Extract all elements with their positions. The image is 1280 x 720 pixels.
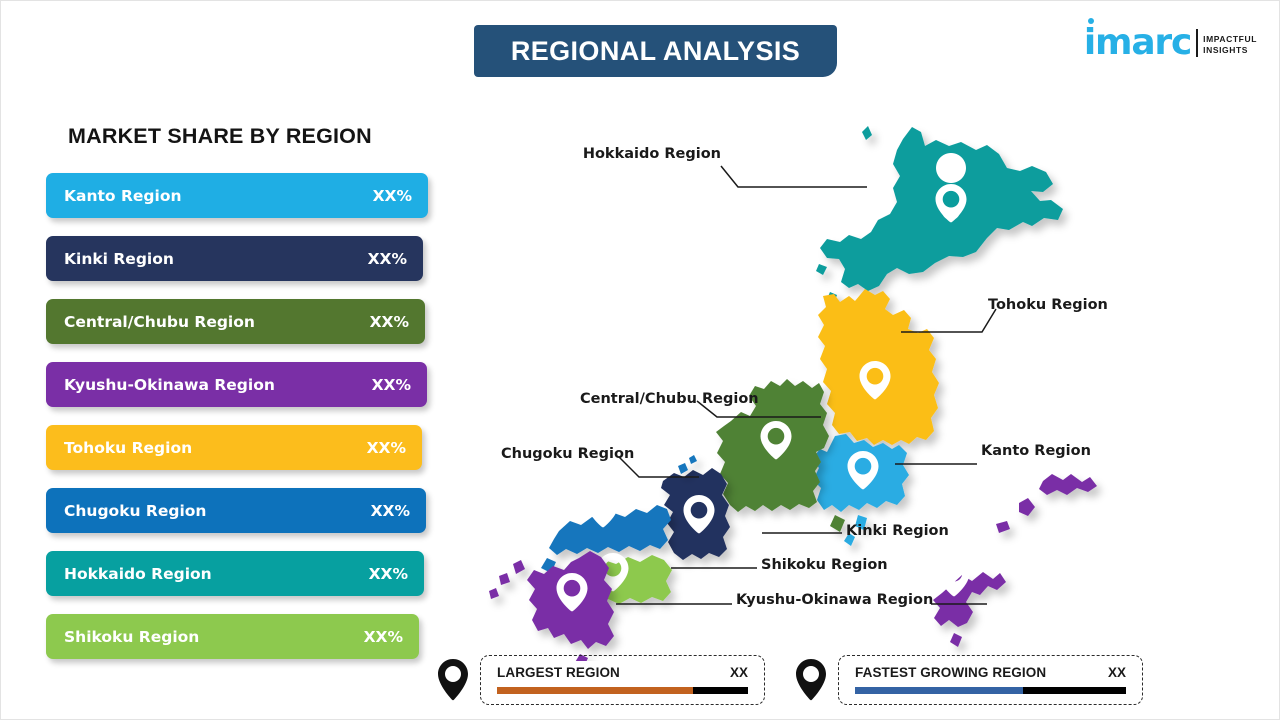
- logo-divider: [1196, 29, 1198, 57]
- logo-dot-icon: [1088, 18, 1094, 24]
- region-bar-value: XX%: [369, 565, 408, 583]
- region-bar-value: XX%: [371, 502, 410, 520]
- leader-tohoku: [901, 309, 996, 332]
- largest-region-label: LARGEST REGION: [497, 665, 620, 680]
- map-label-shikoku: Shikoku Region: [761, 557, 888, 573]
- largest-region-row: LARGEST REGION XX: [497, 665, 748, 680]
- fastest-region-value: XX: [1086, 665, 1126, 680]
- fastest-region-label: FASTEST GROWING REGION: [855, 665, 1046, 680]
- logo-text: imarc: [1084, 22, 1191, 63]
- fastest-region-progress-track: [855, 687, 1126, 694]
- region-bar-value: XX%: [364, 628, 403, 646]
- fastest-region-box[interactable]: FASTEST GROWING REGION XX: [838, 655, 1143, 705]
- region-bar-value: XX%: [370, 313, 409, 331]
- map-label-tohoku: Tohoku Region: [988, 297, 1108, 313]
- region-bar-central-chubu[interactable]: Central/Chubu Region XX%: [46, 299, 425, 344]
- region-bar-label: Kinki Region: [64, 250, 174, 268]
- region-bar-label: Central/Chubu Region: [64, 313, 255, 331]
- map-region-kyushu[interactable]: [489, 551, 614, 661]
- region-bar-tohoku[interactable]: Tohoku Region XX%: [46, 425, 422, 470]
- region-bar-kinki[interactable]: Kinki Region XX%: [46, 236, 423, 281]
- region-bar-label: Hokkaido Region: [64, 565, 212, 583]
- largest-region-progress-track: [497, 687, 748, 694]
- japan-region-map: Hokkaido Region Tohoku Region Central/Ch…: [431, 96, 1131, 661]
- largest-region-callout: LARGEST REGION XX: [438, 655, 765, 705]
- sidebar-title: MARKET SHARE BY REGION: [68, 124, 372, 149]
- map-label-hokkaido: Hokkaido Region: [583, 146, 721, 162]
- region-bar-value: XX%: [373, 187, 412, 205]
- logo-tagline: IMPACTFUL INSIGHTS: [1203, 34, 1257, 56]
- map-label-kinki: Kinki Region: [846, 523, 949, 539]
- fastest-region-progress-fill: [855, 687, 1023, 694]
- region-bar-kanto[interactable]: Kanto Region XX%: [46, 173, 428, 218]
- slide-canvas: REGIONAL ANALYSIS imarc IMPACTFUL INSIGH…: [0, 0, 1280, 720]
- location-pin-icon: [438, 659, 468, 701]
- map-label-central-chubu: Central/Chubu Region: [580, 391, 759, 407]
- region-bar-value: XX%: [368, 250, 407, 268]
- map-label-kanto: Kanto Region: [981, 443, 1091, 459]
- logo-tagline-line2: INSIGHTS: [1203, 45, 1257, 56]
- page-title: REGIONAL ANALYSIS: [511, 36, 800, 67]
- region-bar-label: Kyushu-Okinawa Region: [64, 376, 275, 394]
- region-bar-shikoku[interactable]: Shikoku Region XX%: [46, 614, 419, 659]
- region-bar-value: XX%: [367, 439, 406, 457]
- largest-region-box[interactable]: LARGEST REGION XX: [480, 655, 765, 705]
- fastest-region-row: FASTEST GROWING REGION XX: [855, 665, 1126, 680]
- location-pin-icon: [796, 659, 826, 701]
- region-bar-label: Shikoku Region: [64, 628, 199, 646]
- map-label-chugoku: Chugoku Region: [501, 446, 634, 462]
- leader-hokkaido: [721, 166, 867, 187]
- region-bar-value: XX%: [372, 376, 411, 394]
- fastest-region-callout: FASTEST GROWING REGION XX: [796, 655, 1143, 705]
- map-region-hokkaido[interactable]: [816, 126, 1063, 303]
- largest-region-value: XX: [708, 665, 748, 680]
- region-bar-hokkaido[interactable]: Hokkaido Region XX%: [46, 551, 424, 596]
- logo-tagline-line1: IMPACTFUL: [1203, 34, 1257, 45]
- page-title-banner: REGIONAL ANALYSIS: [474, 25, 837, 77]
- japan-map-svg: [431, 96, 1131, 661]
- region-bar-label: Chugoku Region: [64, 502, 206, 520]
- region-share-list: Kanto Region XX% Kinki Region XX% Centra…: [46, 173, 428, 677]
- map-label-kyushu-okinawa: Kyushu-Okinawa Region: [736, 592, 933, 608]
- region-bar-kyushu-okinawa[interactable]: Kyushu-Okinawa Region XX%: [46, 362, 427, 407]
- imarc-logo: imarc IMPACTFUL INSIGHTS: [1084, 15, 1257, 61]
- largest-region-progress-fill: [497, 687, 693, 694]
- region-bar-chugoku[interactable]: Chugoku Region XX%: [46, 488, 426, 533]
- logo-wordmark: imarc: [1084, 25, 1191, 61]
- map-region-kinki[interactable]: [661, 468, 730, 560]
- region-bar-label: Kanto Region: [64, 187, 182, 205]
- region-bar-label: Tohoku Region: [64, 439, 192, 457]
